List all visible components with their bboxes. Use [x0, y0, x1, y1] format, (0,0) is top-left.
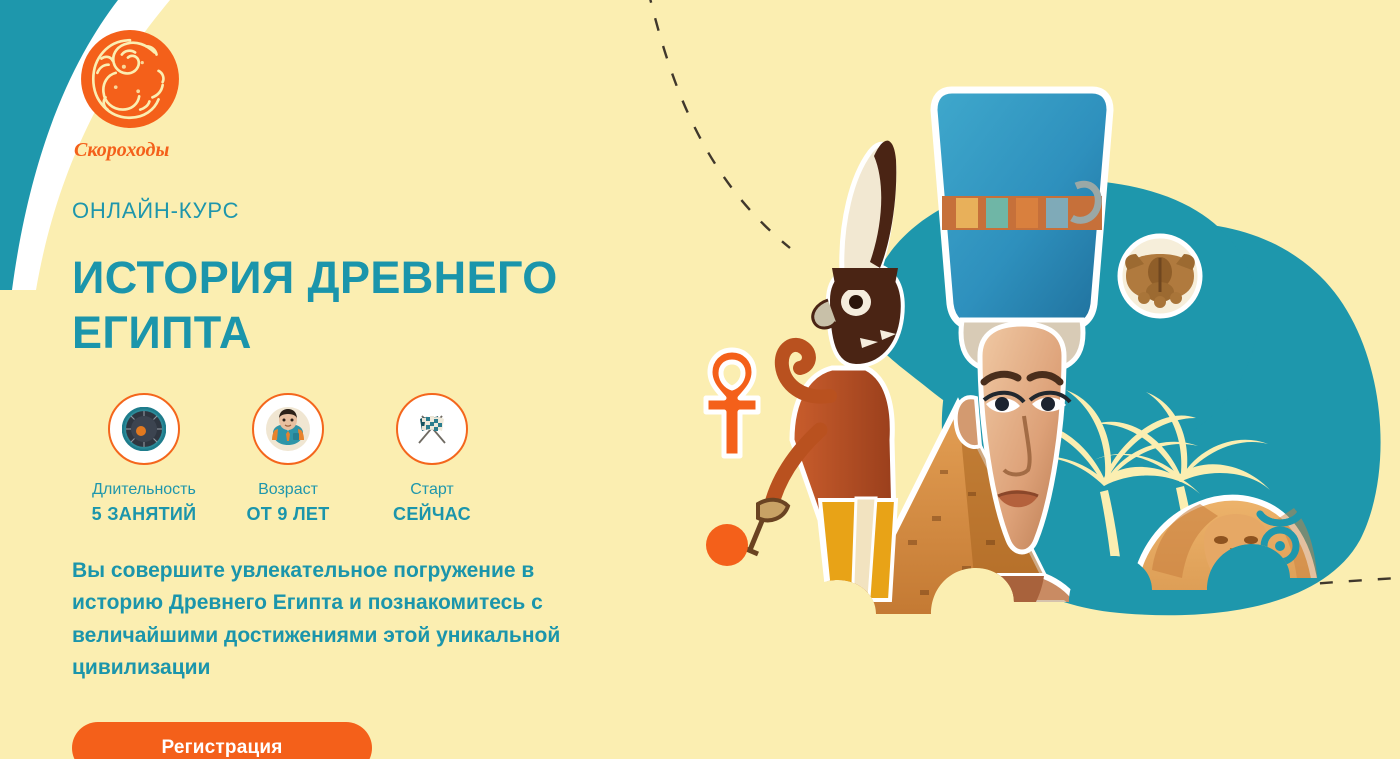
horus-figure-illustration [744, 141, 903, 612]
skorokhody-emblem-icon [79, 28, 181, 130]
stat-age-badge [252, 393, 324, 465]
stat-start: Старт СЕЙЧАС [360, 393, 504, 525]
stat-duration-value: 5 ЗАНЯТИЙ [72, 504, 216, 525]
course-description: Вы совершите увлекательное погружение в … [72, 555, 617, 685]
scarab-amulet-icon [1120, 236, 1200, 316]
page-title: ИСТОРИЯ ДРЕВНЕГО ЕГИПТА [72, 250, 612, 361]
checkered-flags-icon [408, 407, 456, 451]
stat-start-badge [396, 393, 468, 465]
stat-age-value: ОТ 9 ЛЕТ [216, 504, 360, 525]
zodiac-disc-icon [122, 407, 166, 451]
wordmark-text: Скороходы [74, 139, 169, 161]
brand-logo[interactable]: Скороходы [72, 0, 202, 166]
stat-start-value: СЕЙЧАС [360, 504, 504, 525]
registration-button[interactable]: Регистрация [72, 722, 372, 759]
boy-avatar-icon [265, 406, 311, 452]
ankh-symbol-icon [706, 350, 758, 456]
stat-duration-badge [108, 393, 180, 465]
stat-start-label: Старт [360, 481, 504, 499]
orange-dot-decoration [706, 524, 748, 566]
stat-age: Возраст ОТ 9 ЛЕТ [216, 393, 360, 525]
egypt-collage [680, 0, 1400, 759]
stat-duration-label: Длительность [72, 481, 216, 499]
brand-wordmark: Скороходы [72, 132, 202, 166]
stat-duration: Длительность 5 ЗАНЯТИЙ [72, 393, 216, 525]
eyebrow-label: ОНЛАЙН-КУРС [72, 198, 692, 224]
course-stats: Длительность 5 ЗАНЯТИЙ [72, 393, 692, 525]
stat-age-label: Возраст [216, 481, 360, 499]
